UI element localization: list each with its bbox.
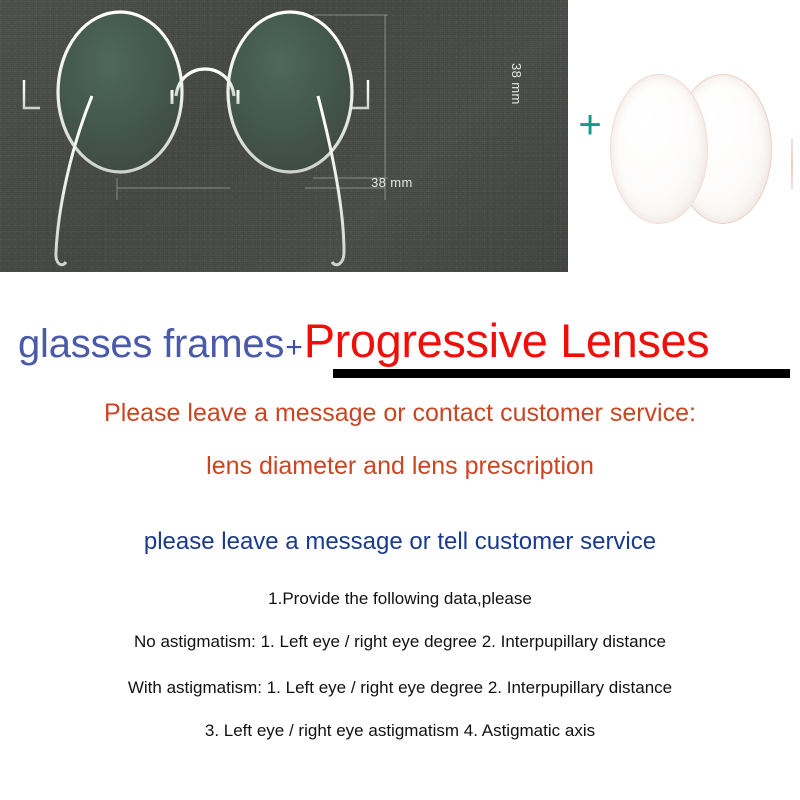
instruction-line-4: 3. Left eye / right eye astigmatism 4. A…	[0, 721, 800, 741]
horizontal-dimension-label: 38 mm	[371, 175, 413, 190]
service-message-line-2: lens diameter and lens prescription	[0, 452, 800, 481]
glasses-frame-photo: 38 mm 38 mm	[0, 0, 568, 272]
instruction-line-1: 1.Provide the following data,please	[0, 589, 800, 609]
progressive-lens-pair-image	[608, 60, 800, 240]
vertical-dimension-label: 38 mm	[509, 63, 524, 105]
service-message-blue: please leave a message or tell customer …	[0, 528, 800, 556]
title-frames-text: glasses frames	[18, 322, 284, 366]
service-message-line-1: Please leave a message or contact custom…	[0, 399, 800, 428]
title-underline-bar	[333, 369, 790, 378]
title-plus-icon: +	[284, 326, 304, 370]
title-lenses-text: Progressive Lenses	[304, 316, 710, 366]
plus-icon: +	[573, 108, 607, 142]
lens-front	[610, 74, 708, 224]
instruction-line-2: No astigmatism: 1. Left eye / right eye …	[0, 632, 800, 652]
instruction-line-3: With astigmatism: 1. Left eye / right ey…	[0, 678, 800, 698]
product-listing-page: 38 mm 38 mm + glasses frames + Progressi…	[0, 0, 800, 800]
hero-image-band: 38 mm 38 mm +	[0, 0, 800, 278]
nose-bridge	[176, 69, 234, 96]
lens-edge-sliver	[791, 138, 793, 190]
glasses-frame-illustration	[0, 0, 568, 272]
